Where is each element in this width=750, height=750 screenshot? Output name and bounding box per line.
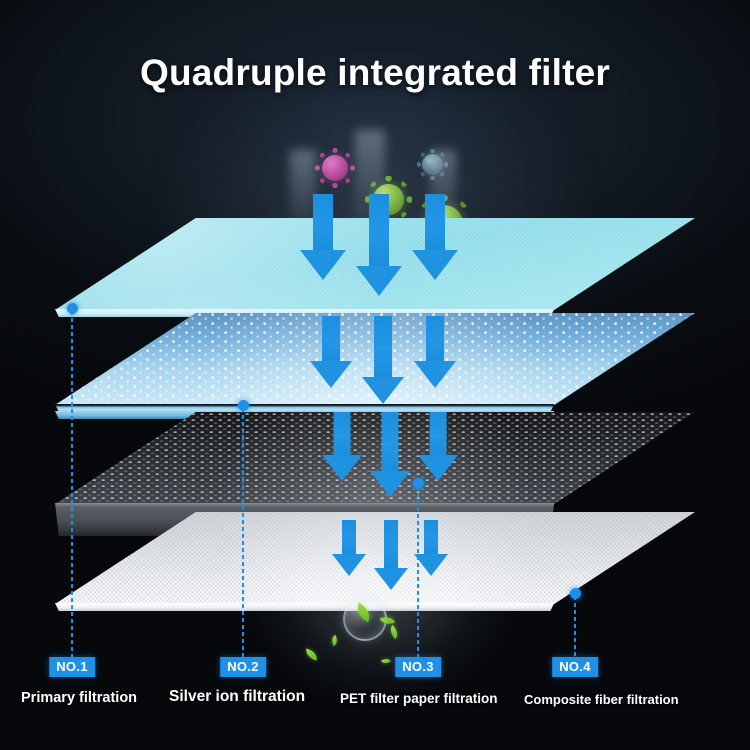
- virus-particle-magenta: [322, 155, 348, 181]
- light-shaft: [425, 398, 451, 458]
- badge-no1[interactable]: NO.1: [49, 657, 95, 677]
- arrow-head-icon: [414, 554, 448, 576]
- arrow-head-icon: [370, 471, 410, 497]
- airflow-arrow: [414, 316, 456, 388]
- background-haze: [160, 60, 590, 290]
- caption-silver-ion-filtration: Silver ion filtration: [169, 688, 305, 706]
- arrow-shaft: [424, 520, 438, 558]
- layer-2-slab: [55, 313, 695, 405]
- layer-2-face: [55, 313, 695, 405]
- layer-3-slab: [55, 412, 695, 504]
- airflow-arrow: [310, 316, 352, 388]
- airflow-arrow: [374, 520, 408, 590]
- layer-1-face: [55, 218, 695, 310]
- light-shaft: [378, 502, 404, 560]
- arrow-shaft: [382, 412, 399, 476]
- arrow-shaft: [384, 520, 398, 572]
- caption-composite-fiber-filtration: Composite fiber filtration: [524, 692, 679, 707]
- airflow-arrow: [362, 316, 404, 404]
- marker-dashed-line: [242, 408, 244, 657]
- virus-particle-steel: [422, 154, 443, 175]
- layer-2-edge: [55, 404, 695, 412]
- arrow-shaft: [426, 316, 444, 366]
- virus-spikes-icon: [365, 176, 412, 223]
- arrow-head-icon: [412, 250, 458, 280]
- light-shaft: [330, 506, 354, 560]
- badge-no4[interactable]: NO.4: [552, 657, 598, 677]
- light-shaft: [420, 506, 444, 560]
- arrow-head-icon: [418, 455, 458, 481]
- layer-3-face: [55, 412, 695, 504]
- arrow-head-icon: [414, 361, 456, 388]
- airflow-arrow: [414, 520, 448, 576]
- arrow-shaft: [430, 412, 447, 460]
- arrow-head-icon: [332, 554, 366, 576]
- marker-dashed-line: [417, 486, 419, 657]
- layer-2-edge-lower: [55, 411, 695, 419]
- arrow-shaft: [322, 316, 340, 366]
- virus-particle-navy: [283, 225, 311, 253]
- arrow-head-icon: [374, 568, 408, 590]
- arrow-shaft: [342, 520, 356, 558]
- layer-1-slab: [55, 218, 695, 310]
- arrow-head-icon: [310, 361, 352, 388]
- arrow-head-icon: [356, 266, 402, 296]
- light-shaft: [318, 398, 344, 458]
- layer-3-edge: [55, 503, 695, 536]
- filter-diagram-canvas: Quadruple integrated filter: [0, 0, 750, 750]
- light-shaft: [372, 394, 400, 458]
- airflow-arrow: [322, 412, 362, 482]
- airflow-arrow: [332, 520, 366, 576]
- light-shaft: [305, 300, 331, 360]
- airflow-arrow: [418, 412, 458, 482]
- arrow-head-icon: [362, 377, 404, 404]
- virus-particle-green-small: [373, 184, 404, 215]
- marker-dashed-line: [574, 596, 576, 657]
- badge-no2[interactable]: NO.2: [220, 657, 266, 677]
- layer-1-edge: [55, 309, 695, 317]
- page-title: Quadruple integrated filter: [0, 52, 750, 94]
- virus-spikes-icon: [276, 218, 319, 261]
- virus-particle-green-large: [425, 205, 463, 243]
- caption-pet-filter-paper-filtration: PET filter paper filtration: [340, 691, 498, 706]
- badge-no3[interactable]: NO.3: [395, 657, 441, 677]
- virus-spikes-icon: [417, 149, 449, 181]
- arrow-shaft: [334, 412, 351, 460]
- airflow-arrow: [370, 412, 410, 498]
- light-shaft: [362, 296, 390, 360]
- caption-primary-filtration: Primary filtration: [21, 690, 137, 706]
- arrow-head-icon: [322, 455, 362, 481]
- arrow-shaft: [374, 316, 392, 382]
- virus-spikes-icon: [315, 148, 355, 188]
- light-shaft: [420, 300, 446, 360]
- marker-dashed-line: [71, 311, 73, 657]
- virus-spikes-icon: [415, 195, 473, 253]
